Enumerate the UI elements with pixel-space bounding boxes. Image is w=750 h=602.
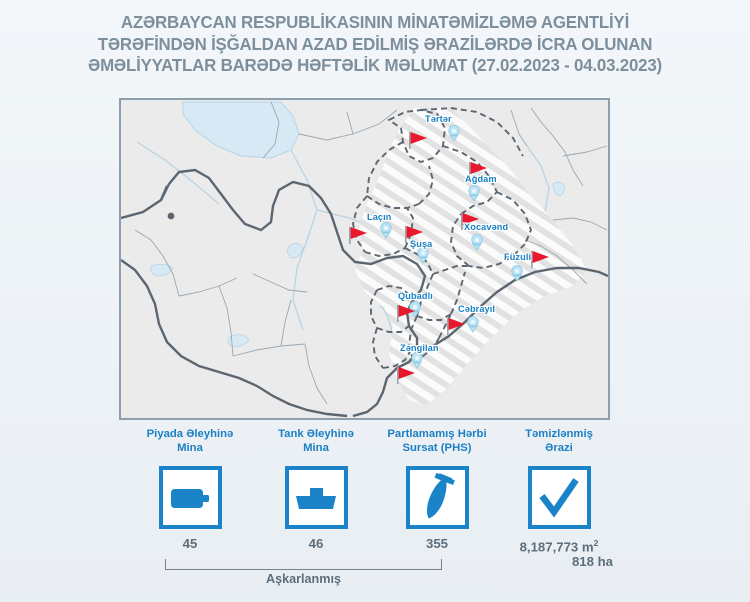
map-point-marker — [168, 213, 175, 220]
anti-personnel-mine-icon-box — [159, 466, 222, 529]
anti-personnel-mine-icon — [168, 483, 212, 513]
page-title: AZƏRBAYCAN RESPUBLİKASININ MİNATƏMİZLƏMƏ… — [0, 0, 750, 83]
bracket-line — [165, 559, 442, 570]
checkmark-icon-box — [528, 466, 591, 529]
legend-heading: Partlamamış Hərbi Sursat (PHS) — [373, 428, 501, 458]
legend-heading: Tank Əleyhinə Mina — [252, 428, 380, 458]
map-svg — [121, 100, 608, 418]
map-container: Tərtər Ağdam Laçın Şuşa Xocavənd Füzuli … — [119, 98, 610, 420]
map-label-qubadli: Qubadlı — [398, 291, 433, 301]
legend-value: 355 — [373, 536, 501, 551]
detected-bracket: Aşkarlanmış — [165, 559, 442, 601]
unexploded-ordnance-icon-box — [406, 466, 469, 529]
legend-section: Piyada Əleyhinə Mina 45 Tank Əleyhinə Mi… — [0, 428, 750, 602]
legend-item-cleared-territory: Təmizlənmiş Ərazi 8,187,773 m2 818 ha — [495, 428, 623, 569]
title-line-3: ƏMƏLİYYATLAR BARƏDƏ HƏFTƏLİK MƏLUMAT (27… — [29, 55, 722, 77]
title-line-2: TƏRƏFİNDƏN İŞĞALDAN AZAD EDİLMİŞ ƏRAZİLƏ… — [29, 34, 722, 56]
anti-tank-mine-icon-box — [285, 466, 348, 529]
map-label-agdam: Ağdam — [465, 174, 497, 184]
anti-tank-mine-icon — [293, 483, 339, 513]
legend-value: 46 — [252, 536, 380, 551]
area-hectares: 818 ha — [495, 554, 623, 569]
map-label-zengilan: Zəngilan — [400, 343, 439, 353]
area-unit-exponent: 2 — [594, 538, 599, 548]
legend-item-unexploded-ordnance: Partlamamış Hərbi Sursat (PHS) 355 — [373, 428, 501, 551]
legend-heading: Təmizlənmiş Ərazi — [495, 428, 623, 458]
unexploded-ordnance-icon — [416, 473, 458, 523]
legend-item-anti-tank-mine: Tank Əleyhinə Mina 46 — [252, 428, 380, 551]
legend-value-area: 8,187,773 m2 818 ha — [495, 536, 623, 569]
map-label-cebrayil: Cəbrayıl — [458, 304, 495, 314]
checkmark-icon — [537, 476, 581, 520]
legend-heading: Piyada Əleyhinə Mina — [126, 428, 254, 458]
map-label-susa: Şuşa — [410, 239, 432, 249]
title-line-1: AZƏRBAYCAN RESPUBLİKASININ MİNATƏMİZLƏMƏ… — [29, 12, 722, 34]
map-label-fuzuli: Füzuli — [504, 252, 531, 262]
map-label-xocavend: Xocavənd — [464, 222, 508, 232]
area-number: 8,187,773 m — [520, 539, 594, 554]
bracket-label: Aşkarlanmış — [165, 572, 442, 586]
legend-value: 45 — [126, 536, 254, 551]
legend-item-anti-personnel-mine: Piyada Əleyhinə Mina 45 — [126, 428, 254, 551]
map-label-terter: Tərtər — [425, 114, 452, 124]
map-label-lacin: Laçın — [367, 212, 392, 222]
